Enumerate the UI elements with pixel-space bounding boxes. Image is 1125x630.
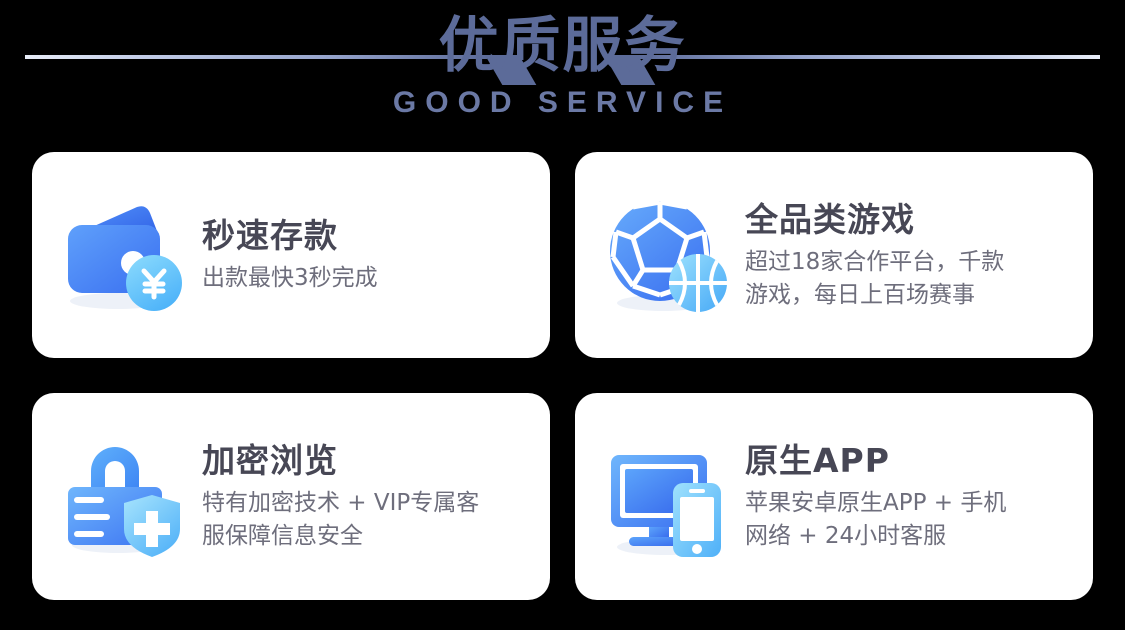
card-subtitle: 超过18家合作平台，千款 游戏，每日上百场赛事 [745, 246, 1075, 312]
lock-shield-icon [60, 433, 188, 561]
card-subtitle-line: 超过18家合作平台，千款 [745, 246, 1075, 279]
monitor-phone-icon [603, 433, 731, 561]
card-title: 加密浏览 [202, 440, 532, 482]
feature-card-text: 原生APP 苹果安卓原生APP + 手机 网络 + 24小时客服 [745, 440, 1075, 553]
card-title: 全品类游戏 [745, 199, 1075, 241]
page-subtitle: GOOD SERVICE [0, 86, 1125, 120]
card-subtitle: 苹果安卓原生APP + 手机 网络 + 24小时客服 [745, 487, 1075, 553]
page-title: 优质服务 [0, 8, 1125, 84]
card-subtitle: 特有加密技术 + VIP专属客 服保障信息安全 [202, 487, 532, 553]
card-subtitle-line: 服保障信息安全 [202, 520, 532, 553]
feature-card-deposit[interactable]: 秒速存款 出款最快3秒完成 [32, 152, 550, 358]
card-title: 原生APP [745, 440, 1075, 482]
feature-card-native-app[interactable]: 原生APP 苹果安卓原生APP + 手机 网络 + 24小时客服 [575, 393, 1093, 600]
feature-card-text: 加密浏览 特有加密技术 + VIP专属客 服保障信息安全 [202, 440, 532, 553]
card-subtitle-line: 特有加密技术 + VIP专属客 [202, 487, 532, 520]
card-subtitle-line: 游戏，每日上百场赛事 [745, 279, 1075, 312]
feature-card-text: 全品类游戏 超过18家合作平台，千款 游戏，每日上百场赛事 [745, 199, 1075, 312]
feature-card-games[interactable]: 全品类游戏 超过18家合作平台，千款 游戏，每日上百场赛事 [575, 152, 1093, 358]
card-title: 秒速存款 [202, 215, 532, 257]
card-subtitle-line: 苹果安卓原生APP + 手机 [745, 487, 1075, 520]
feature-card-text: 秒速存款 出款最快3秒完成 [202, 215, 532, 295]
card-subtitle-line: 网络 + 24小时客服 [745, 520, 1075, 553]
feature-card-encryption[interactable]: 加密浏览 特有加密技术 + VIP专属客 服保障信息安全 [32, 393, 550, 600]
wallet-yen-icon [60, 191, 188, 319]
banner-header: 优质服务 GOOD SERVICE [0, 0, 1125, 146]
card-subtitle-line: 出款最快3秒完成 [202, 262, 532, 295]
card-subtitle: 出款最快3秒完成 [202, 262, 532, 295]
feature-card-grid: 秒速存款 出款最快3秒完成 [32, 152, 1093, 600]
title-block: 优质服务 GOOD SERVICE [0, 8, 1125, 120]
soccer-basketball-icon [603, 191, 731, 319]
service-feature-banner: 优质服务 GOOD SERVICE [0, 0, 1125, 630]
